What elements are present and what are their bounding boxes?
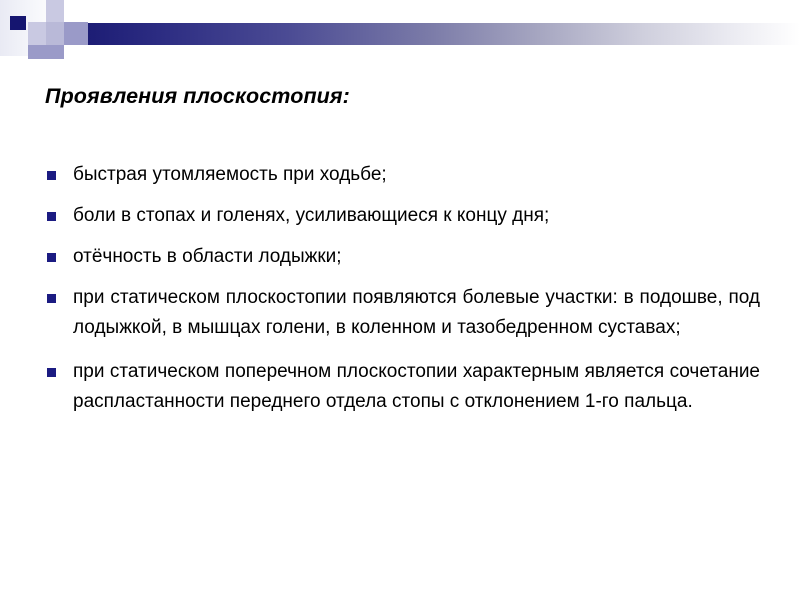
symptom-list: быстрая утомляемость при ходьбе; боли в …: [44, 160, 760, 431]
list-item-label: при статическом поперечном плоскостопии …: [73, 357, 760, 417]
bullet-square-icon: [47, 253, 56, 262]
decoration-accent-square: [10, 16, 26, 30]
decoration-square-top: [46, 0, 64, 22]
decoration-square-upper-right: [64, 22, 88, 45]
list-item: боли в стопах и голенях, усиливающиеся к…: [44, 201, 760, 231]
list-item-label: боли в стопах и голенях, усиливающиеся к…: [73, 205, 549, 226]
bullet-square-icon: [47, 368, 56, 377]
list-item-label: быстрая утомляемость при ходьбе;: [73, 164, 387, 185]
decoration-gradient-bar: [88, 23, 800, 45]
decoration-square-bottom-step: [28, 45, 46, 59]
decoration-square-lower: [46, 45, 64, 59]
bullet-square-icon: [47, 212, 56, 221]
slide-canvas: Проявления плоскостопия: быстрая утомляе…: [0, 0, 800, 600]
list-item-label: при статическом плоскостопии появляются …: [73, 283, 760, 343]
bullet-square-icon: [47, 294, 56, 303]
decoration-square-mid-left: [28, 22, 46, 45]
list-item: при статическом поперечном плоскостопии …: [44, 357, 760, 417]
header-decoration: [0, 0, 800, 62]
list-item: при статическом плоскостопии появляются …: [44, 283, 760, 343]
decoration-square-upper: [46, 22, 64, 45]
page-title: Проявления плоскостопия:: [45, 84, 745, 109]
list-item: быстрая утомляемость при ходьбе;: [44, 160, 760, 190]
list-item: отёчность в области лодыжки;: [44, 242, 760, 272]
list-item-label: отёчность в области лодыжки;: [73, 246, 342, 267]
bullet-square-icon: [47, 171, 56, 180]
